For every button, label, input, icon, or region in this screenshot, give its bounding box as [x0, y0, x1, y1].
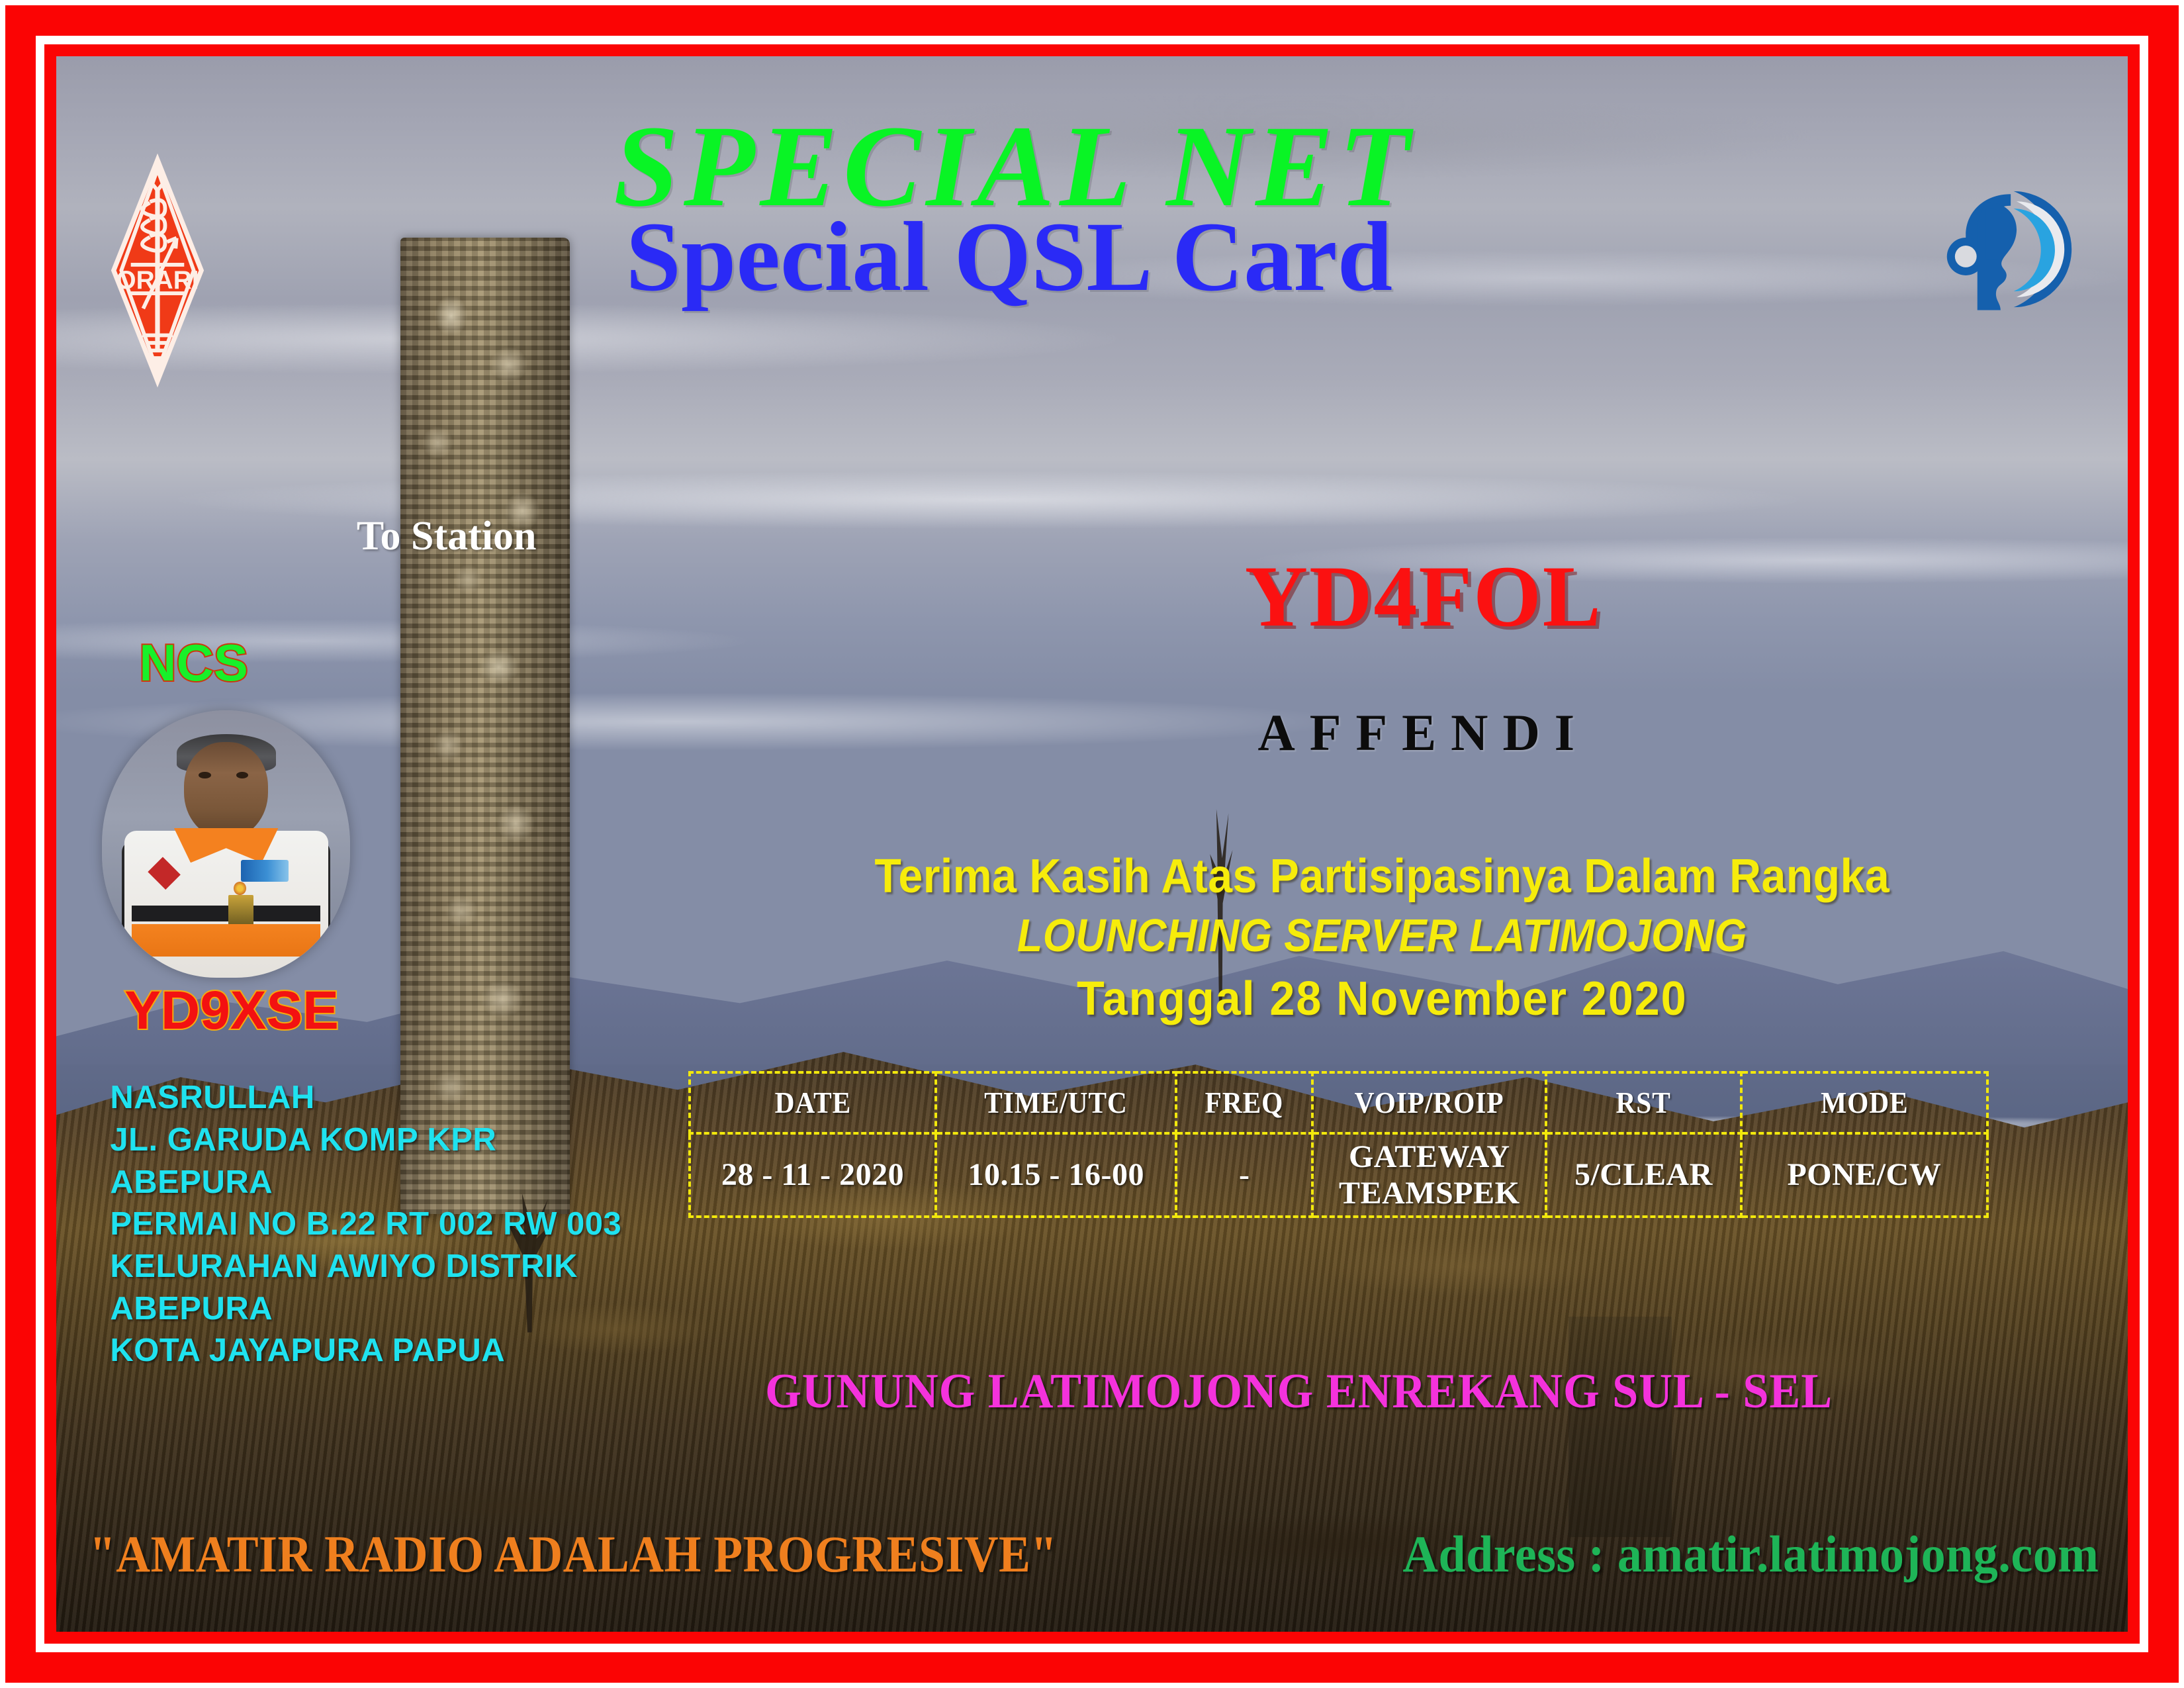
qsl-card: ORARI: [0, 0, 2184, 1688]
thanks-message-block: Terima Kasih Atas Partisipasinya Dalam R…: [740, 849, 2025, 1033]
qso-log-table: DATE TIME/UTC FREQ VOIP/ROIP RST MODE 28…: [688, 1071, 1989, 1218]
cell-voip-line1: GATEWAY: [1316, 1139, 1542, 1175]
cell-date: 28 - 11 - 2020: [690, 1133, 936, 1217]
address-line: KOTA JAYAPURA PAPUA: [110, 1330, 621, 1372]
header-date: DATE: [702, 1072, 923, 1133]
header-voip: VOIP/ROIP: [1324, 1072, 1535, 1133]
cell-time: 10.15 - 16-00: [936, 1133, 1176, 1217]
portrait-id-card: [228, 895, 253, 927]
thanks-line-1: Terima Kasih Atas Partisipasinya Dalam R…: [792, 849, 1973, 905]
card-white-gap-border: ORARI: [36, 36, 2148, 1652]
background-photograph: ORARI: [56, 56, 2128, 1632]
thanks-line-3-date: Tanggal 28 November 2020: [772, 966, 1992, 1033]
address-line: KELURAHAN AWIYO DISTRIK: [110, 1246, 621, 1288]
portrait-id-clip: [234, 882, 246, 895]
cairn-stone-texture: [400, 238, 570, 1215]
footer-web-address: Address : amatir.latimojong.com: [1402, 1524, 2099, 1584]
header-mode: MODE: [1753, 1072, 1975, 1133]
station-callsign: YD4FOL: [885, 553, 1962, 640]
portrait-chest-logo: [241, 860, 288, 881]
cell-voip-line2: TEAMSPEK: [1316, 1175, 1542, 1211]
card-inner-red-border: ORARI: [44, 44, 2140, 1644]
ncs-label: NCS: [139, 633, 248, 693]
portrait-uniform-belt: [132, 924, 320, 957]
address-line: ABEPURA: [110, 1288, 621, 1331]
ncs-callsign: YD9XSE: [124, 980, 339, 1042]
location-caption: GUNUNG LATIMOJONG ENREKANG SUL - SEL: [669, 1364, 1929, 1420]
header-time: TIME/UTC: [948, 1072, 1164, 1133]
ncs-operator-portrait: [102, 710, 351, 978]
address-line: PERMAI NO B.22 RT 002 RW 003: [110, 1203, 621, 1246]
cell-mode: PONE/CW: [1741, 1133, 1988, 1217]
portrait-uniform-stripe: [132, 906, 320, 921]
operator-name: AFFENDI: [885, 707, 1962, 759]
header-rst: RST: [1556, 1072, 1731, 1133]
header-freq: FREQ: [1183, 1072, 1306, 1133]
stone-cairn-monument: [400, 238, 570, 1215]
page-subtitle-qsl-card: Special QSL Card: [56, 207, 2128, 306]
table-row: 28 - 11 - 2020 10.15 - 16-00 - GATEWAY T…: [690, 1133, 1988, 1217]
ground-shadow: [1569, 1317, 1672, 1537]
table-header-row: DATE TIME/UTC FREQ VOIP/ROIP RST MODE: [690, 1072, 1988, 1133]
thanks-line-2-event: LOUNCHING SERVER LATIMOJONG: [804, 905, 1960, 966]
address-line: NASRULLAH: [110, 1077, 621, 1119]
card-outer-red-border: ORARI: [5, 5, 2179, 1683]
mailing-address-block: NASRULLAH JL. GARUDA KOMP KPR ABEPURA PE…: [110, 1077, 621, 1372]
cell-voip: GATEWAY TEAMSPEK: [1312, 1133, 1546, 1217]
cell-freq: -: [1176, 1133, 1312, 1217]
cell-rst: 5/CLEAR: [1546, 1133, 1741, 1217]
portrait-face: [184, 742, 269, 839]
footer-slogan: "AMATIR RADIO ADALAH PROGRESIVE": [89, 1524, 1058, 1584]
to-station-label: To Station: [357, 513, 537, 560]
address-line: ABEPURA: [110, 1162, 621, 1204]
address-line: JL. GARUDA KOMP KPR: [110, 1119, 621, 1162]
